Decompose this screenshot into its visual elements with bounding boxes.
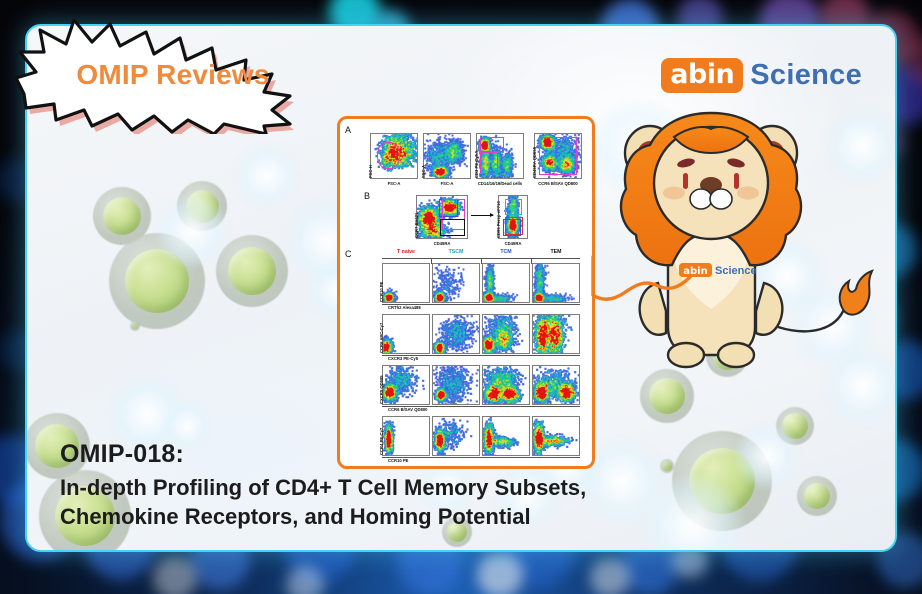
density-plot (424, 134, 471, 179)
plot-x-label: CRTh2 Alexa488 (388, 305, 421, 310)
flow-plot (482, 263, 530, 303)
cell-sphere (776, 407, 814, 445)
flow-plot (382, 365, 430, 405)
gate-rect (440, 219, 465, 237)
row-underline (382, 304, 580, 305)
panel-c-column-header: TEM (532, 249, 580, 255)
cell-sphere (177, 181, 227, 231)
cell-sphere (797, 476, 837, 516)
plot-y-label: CXCR5 QD585 (379, 375, 384, 404)
density-plot (383, 264, 430, 303)
flow-plot (432, 314, 480, 354)
plot-y-label: SSC-A (421, 165, 426, 178)
badge-label: OMIP Reviews (14, 16, 314, 134)
gate-rect (539, 137, 578, 176)
logo-mark: abin (661, 58, 743, 93)
flow-plot (534, 133, 582, 179)
gate-rect (480, 152, 498, 173)
plot-y-label: CD45RA QD655 (532, 147, 537, 178)
plot-y-label: FSC-H (368, 165, 373, 178)
arrow-head (490, 213, 494, 217)
gate-rect (505, 199, 522, 216)
cell-sphere (216, 235, 288, 307)
density-plot (483, 315, 530, 354)
flow-plot (423, 133, 471, 179)
plot-x-label: CXCR3 PE-Cy5 (388, 356, 418, 361)
plot-y-label: CD3 PE Cy5.5 (474, 151, 479, 178)
connector-line (590, 255, 710, 335)
density-plot (533, 264, 580, 303)
cell-sphere (130, 321, 140, 331)
density-plot (433, 366, 480, 405)
flow-plot (532, 365, 580, 405)
plot-x-label: CD45RA (490, 241, 536, 246)
logo-wordmark: Science (750, 59, 862, 92)
flow-plot (370, 133, 418, 179)
density-plot (483, 366, 530, 405)
plot-y-label: CD95 Percp-eF710 (496, 201, 501, 238)
plot-x-label: CCR6 B/SAV QD800 (526, 181, 590, 186)
flow-plot (482, 314, 530, 354)
plot-y-label: CCR7 BV421 (414, 213, 419, 238)
flow-plot (482, 365, 530, 405)
density-plot (483, 264, 530, 303)
plot-y-label: CCR10 PE (379, 282, 384, 302)
omip-subtitle: In-depth Profiling of CD4+ T Cell Memory… (60, 473, 760, 531)
flow-plot (532, 314, 580, 354)
flow-plot (432, 263, 480, 303)
plot-y-label: CCR6 APC-Cy7 (379, 323, 384, 353)
plot-x-label: CD14/16/19/Dead cells (468, 181, 532, 186)
density-plot (533, 366, 580, 405)
density-plot (383, 315, 430, 354)
flow-cytometry-figure: AFSC-AFSC-HFSC-ASSC-ACD14/16/19/Dead cel… (337, 116, 595, 469)
density-plot (433, 315, 480, 354)
flow-plot (476, 133, 524, 179)
flow-plot (498, 195, 528, 239)
gate-rect (480, 137, 504, 152)
omip-subtitle-line1: In-depth Profiling of CD4+ T Cell Memory… (60, 473, 760, 502)
flow-plot (382, 263, 430, 303)
row-underline (382, 406, 580, 407)
plot-x-label: CD45RA (408, 241, 476, 246)
density-plot (533, 315, 580, 354)
omip-reviews-badge: OMIP Reviews (14, 16, 314, 134)
flow-plot (382, 314, 430, 354)
cell-sphere (109, 233, 205, 329)
omip-id-label: OMIP-018: (60, 440, 760, 469)
plot-x-label: CCR6 B/SAV QD800 (388, 407, 427, 412)
omip-subtitle-line2: Chemokine Receptors, and Homing Potentia… (60, 502, 760, 531)
panel-b-letter: B (364, 191, 370, 201)
row-underline (382, 355, 580, 356)
flow-plot (432, 365, 480, 405)
density-plot (383, 366, 430, 405)
panel-a-letter: A (345, 125, 351, 135)
panel-c-column-header: T naive (382, 249, 430, 255)
panel-c-column-header: TSCM (432, 249, 480, 255)
panel-c-letter: C (345, 249, 352, 259)
gate-polygon (377, 142, 399, 169)
panel-c-column-header: TCM (482, 249, 530, 255)
lion-chest-logo-word: Science (715, 265, 757, 277)
flow-plot (532, 263, 580, 303)
flow-plot (416, 195, 468, 239)
density-plot (433, 264, 480, 303)
abin-science-logo: abin Science (661, 58, 862, 93)
title-block: OMIP-018: In-depth Profiling of CD4+ T C… (60, 440, 760, 531)
gate-rect (503, 219, 520, 237)
